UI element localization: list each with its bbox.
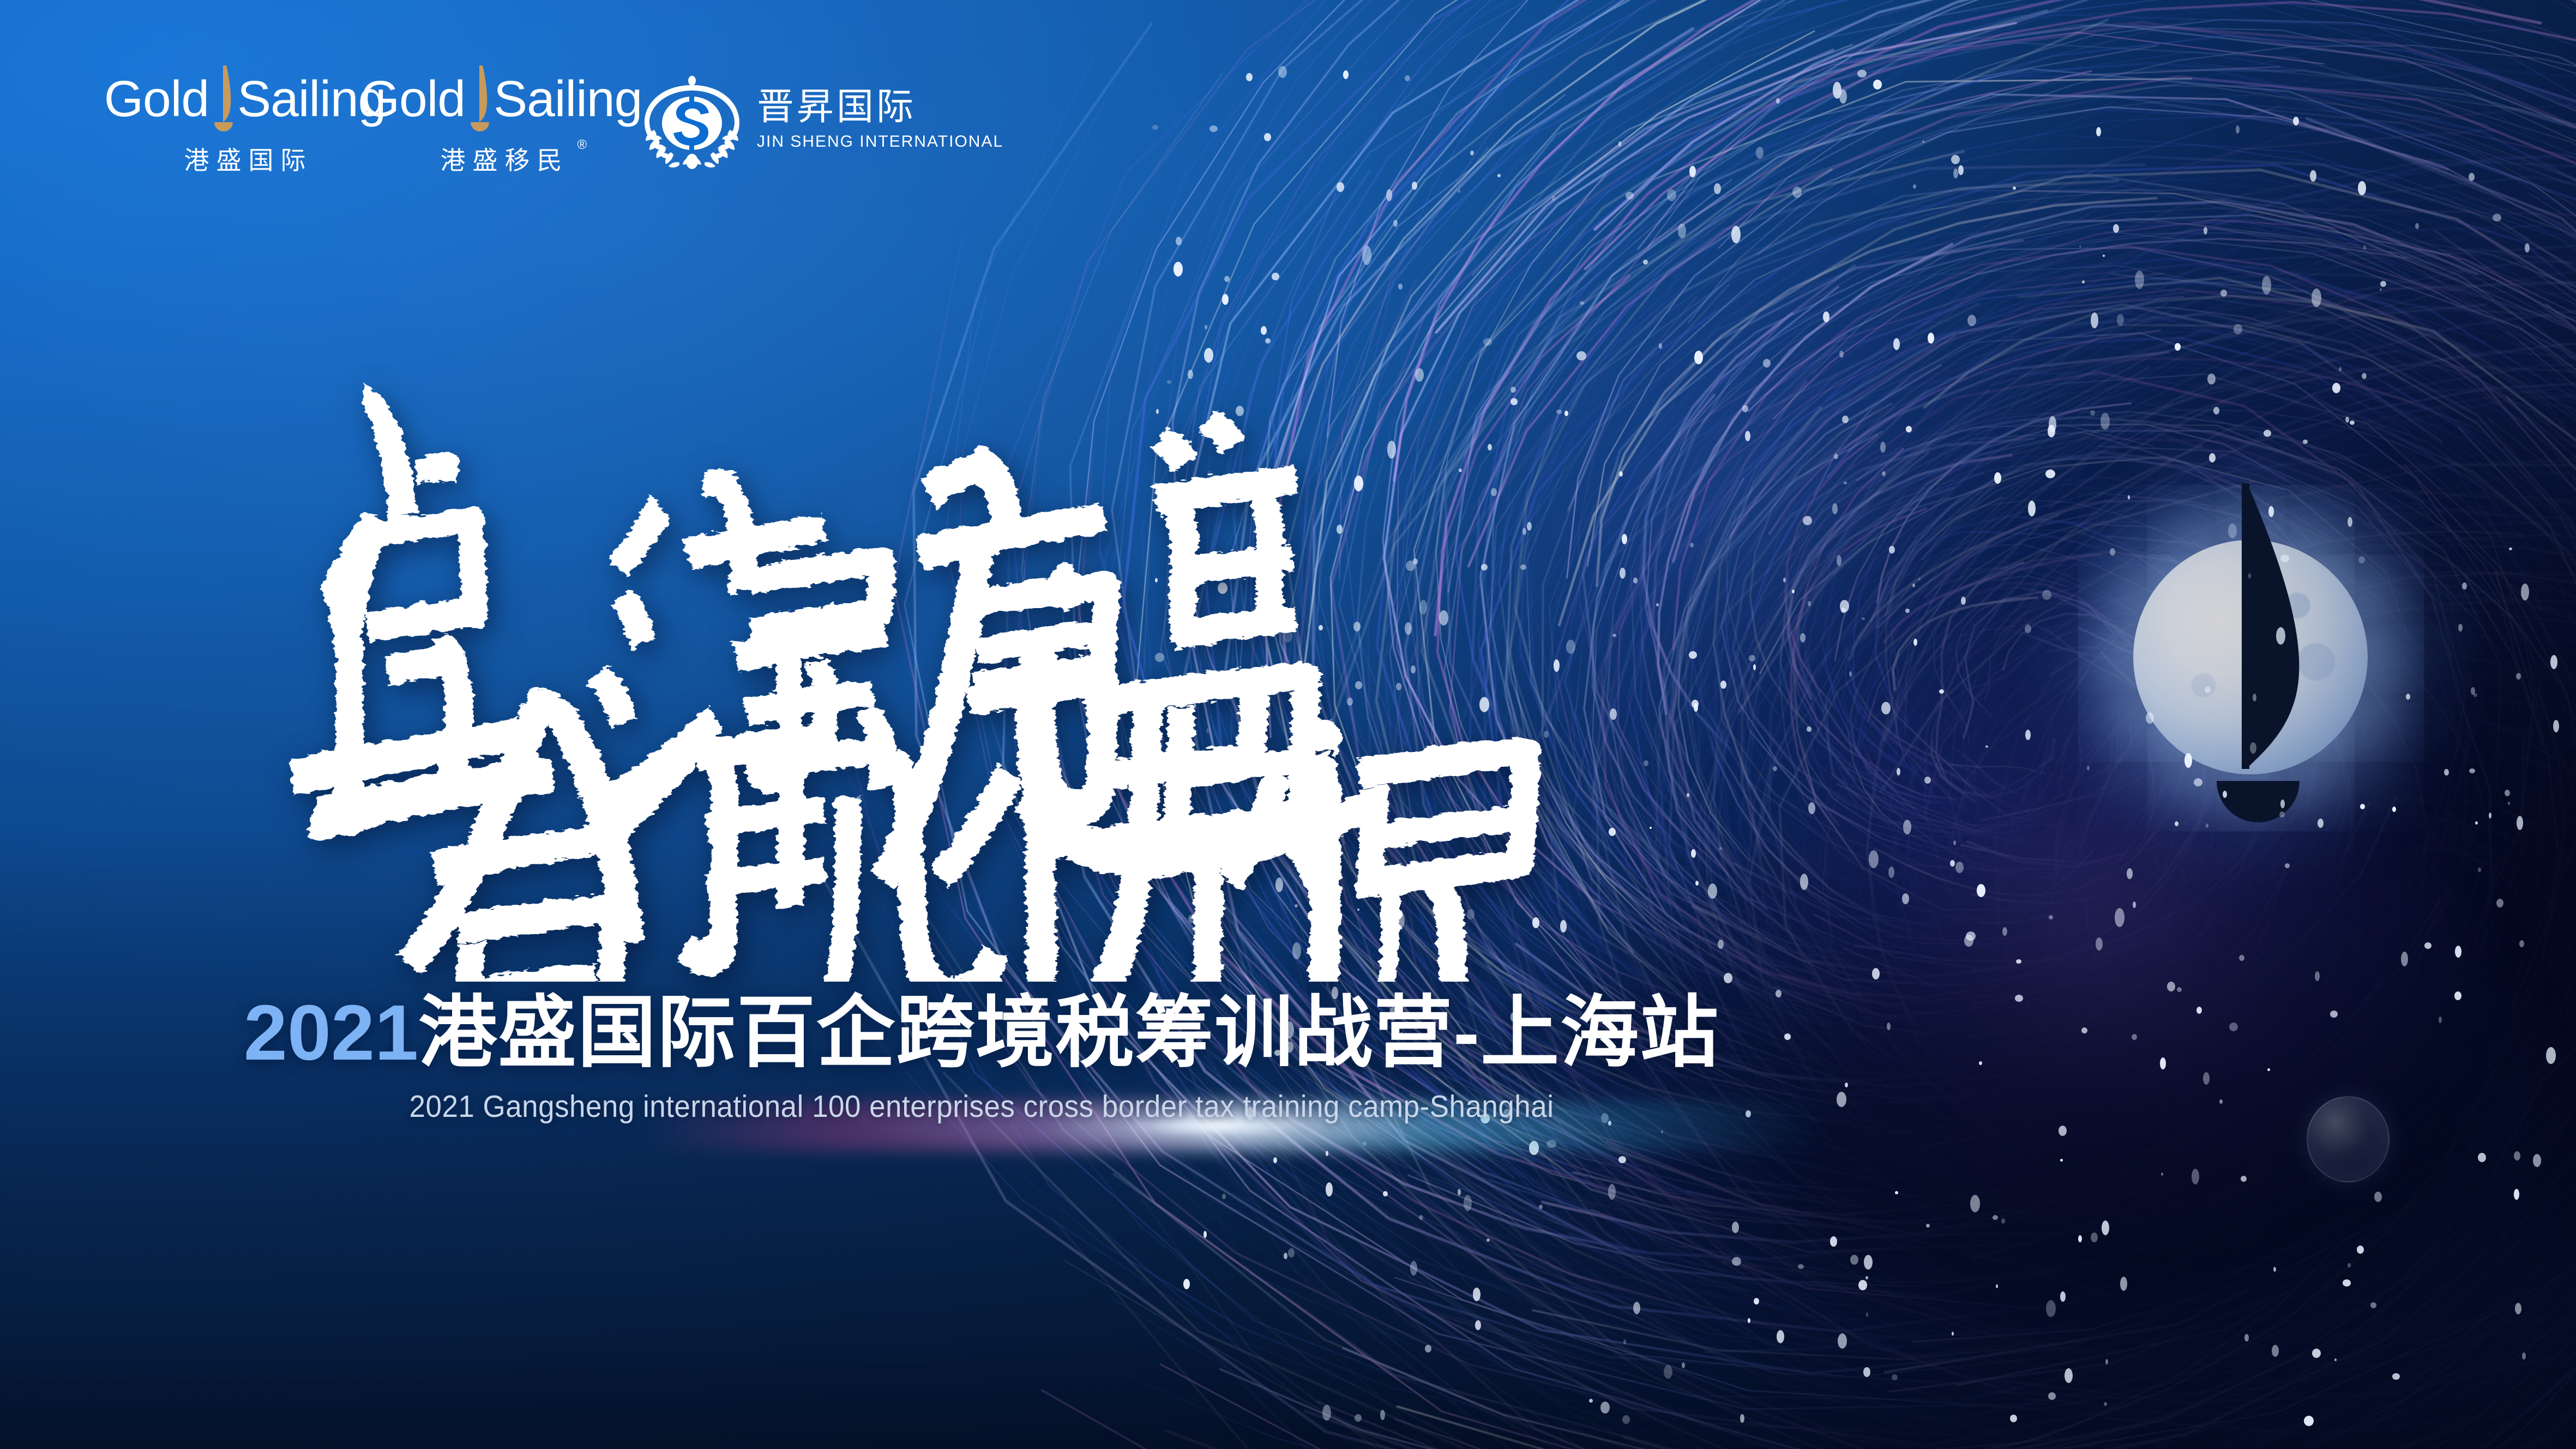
- logo-bar: Gold Sailing 港盛国际 Gold: [117, 65, 1003, 177]
- logo-jin-sheng-international[interactable]: 晋昇国际 JIN SHENG INTERNATIONAL: [641, 65, 1003, 170]
- logo-chinese-text: 港盛移民: [441, 146, 569, 175]
- sail-mark-icon: [466, 65, 491, 132]
- logo-gold-sailing-immigration[interactable]: Gold Sailing 港盛移民®: [373, 65, 629, 177]
- wordmark-sailing: Sailing: [493, 74, 642, 124]
- sail-mark-icon: [210, 65, 235, 132]
- jin-sheng-chinese-name: 晋昇国际: [757, 88, 916, 127]
- event-title-english: 2021 Gangsheng international 100 enterpr…: [69, 1089, 1894, 1125]
- logo-chinese-name: 港盛移民®: [434, 141, 569, 177]
- event-poster: Gold Sailing 港盛国际 Gold: [0, 0, 2576, 1449]
- gold-sailing-wordmark: Gold Sailing: [360, 65, 642, 132]
- registered-trademark-icon: ®: [570, 137, 594, 153]
- jin-sheng-english-name: JIN SHENG INTERNATIONAL: [757, 133, 1003, 151]
- laurel-wreath-emblem-icon: [641, 69, 743, 170]
- event-year: 2021: [244, 989, 418, 1077]
- wordmark-gold: Gold: [104, 74, 209, 124]
- calligraphy-headline: [256, 305, 1729, 982]
- gold-sailing-wordmark: Gold Sailing: [104, 65, 386, 132]
- subtitle-block: 2021港盛国际百企跨境税筹训战营-上海站 2021 Gangsheng int…: [0, 994, 1963, 1125]
- wordmark-gold: Gold: [360, 74, 465, 124]
- logo-gold-sailing-international[interactable]: Gold Sailing 港盛国际: [117, 65, 373, 177]
- event-title: 2021港盛国际百企跨境税筹训战营-上海站: [0, 994, 1963, 1072]
- jin-sheng-text-block: 晋昇国际 JIN SHENG INTERNATIONAL: [757, 88, 1003, 151]
- logo-chinese-name: 港盛国际: [177, 141, 313, 177]
- event-title-chinese: 港盛国际百企跨境税筹训战营-上海站: [418, 989, 1719, 1077]
